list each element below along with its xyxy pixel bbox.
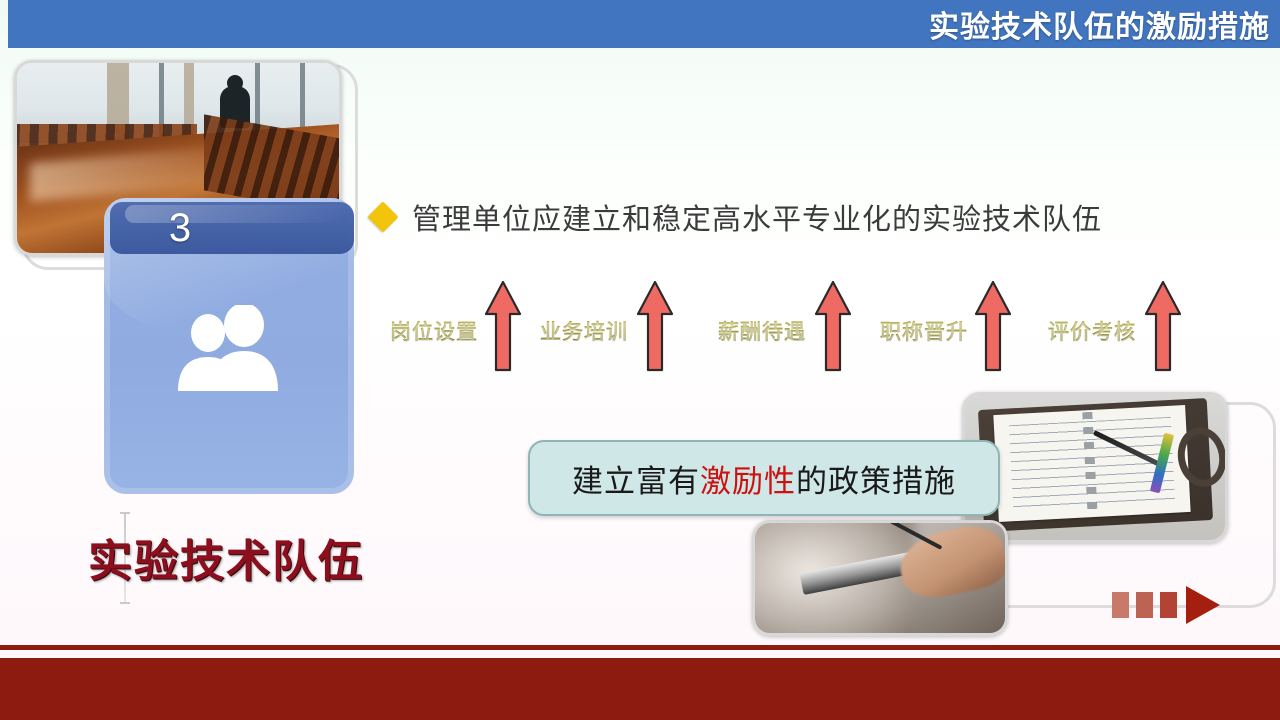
people-icon — [168, 305, 288, 391]
up-arrow-icon-4 — [974, 280, 1012, 372]
arrow-label-4: 职称晋升 — [880, 316, 968, 346]
up-arrow-icon-2 — [636, 280, 674, 372]
callout-text-highlight: 激励性 — [700, 464, 796, 499]
nav-square-1 — [1112, 592, 1129, 618]
step-number-band — [110, 202, 354, 254]
footer-band — [0, 658, 1280, 720]
next-slide-indicator[interactable] — [1112, 586, 1220, 624]
callout-text-after: 的政策措施 — [796, 464, 956, 499]
nav-square-3 — [1160, 592, 1177, 618]
page-title: 实验技术队伍的激励措施 — [929, 2, 1270, 46]
bullet-text: 管理单位应建立和稳定高水平专业化的实验技术队伍 — [412, 196, 1102, 238]
play-triangle-icon[interactable] — [1186, 586, 1220, 624]
header-bar: 实验技术队伍的激励措施 — [8, 0, 1280, 48]
arrow-label-2: 业务培训 — [540, 316, 628, 346]
footer-accent-line — [0, 645, 1280, 650]
arrow-label-5: 评价考核 — [1048, 316, 1136, 346]
diamond-bullet-icon — [367, 201, 398, 232]
callout-text: 建立富有激励性的政策措施 — [572, 456, 956, 501]
hand-writing-photo — [752, 520, 1008, 636]
bullet-row: 管理单位应建立和稳定高水平专业化的实验技术队伍 — [372, 196, 1102, 238]
up-arrow-icon-1 — [484, 280, 522, 372]
nav-square-2 — [1136, 592, 1153, 618]
up-arrow-icon-5 — [1144, 280, 1182, 372]
arrow-label-1: 岗位设置 — [390, 316, 478, 346]
step-number: 3 — [150, 200, 210, 256]
slide-canvas: 实验技术队伍的激励措施 3 实验技术队伍 管理单位应建立和稳定高水平专业化的实验… — [0, 0, 1280, 720]
up-arrow-icon-3 — [814, 280, 852, 372]
planner-notebook-photo — [962, 392, 1228, 543]
arrow-label-3: 薪酬待遇 — [718, 316, 806, 346]
callout-box: 建立富有激励性的政策措施 — [528, 440, 1000, 516]
callout-text-before: 建立富有 — [572, 464, 700, 499]
section-heading: 实验技术队伍 — [88, 525, 364, 589]
